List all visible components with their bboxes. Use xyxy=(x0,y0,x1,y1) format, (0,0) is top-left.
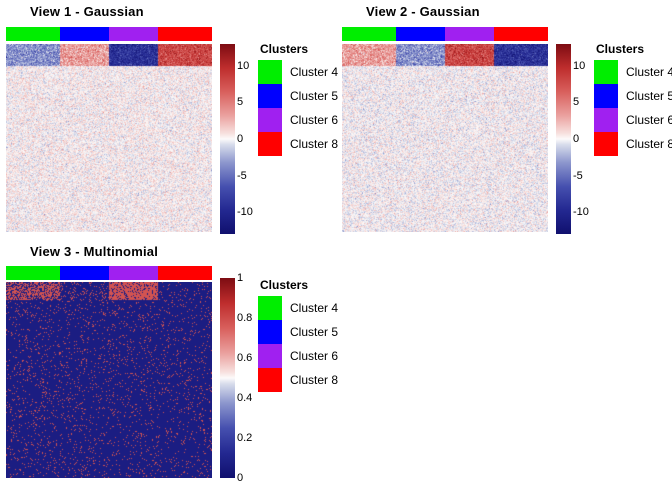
legend-swatch-icon xyxy=(258,368,282,392)
legend-item-label: Cluster 5 xyxy=(290,325,338,339)
legend-item-label: Cluster 5 xyxy=(626,89,672,103)
legend-item-1: Cluster 4 xyxy=(258,296,336,320)
heatmap-view-1 xyxy=(6,44,212,232)
legend-swatch-icon xyxy=(594,108,618,132)
cluster-bar-view-3 xyxy=(6,266,212,280)
legend-rows: Cluster 4Cluster 5Cluster 6Cluster 8 xyxy=(594,60,672,156)
legend-swatch-icon xyxy=(594,132,618,156)
colorbar-view-3 xyxy=(220,278,235,478)
colorbar-view-2 xyxy=(556,44,571,234)
colorbar-tick-label: 0.8 xyxy=(237,312,252,324)
legend-item-label: Cluster 8 xyxy=(626,137,672,151)
legend-swatch-icon xyxy=(258,320,282,344)
cluster-bar-segment-2 xyxy=(396,27,445,41)
legend-item-4: Cluster 8 xyxy=(258,368,336,392)
panel-view-2: View 2 - Gaussian 1050-5-10 Clusters Clu… xyxy=(336,0,672,240)
cluster-bar-segment-4 xyxy=(158,266,212,280)
cluster-bar-view-1 xyxy=(6,27,212,41)
legend-item-label: Cluster 6 xyxy=(290,113,338,127)
cluster-bar-segment-1 xyxy=(6,266,60,280)
legend-item-label: Cluster 8 xyxy=(290,137,338,151)
colorbar-gradient xyxy=(220,278,235,478)
colorbar-tick-label: -5 xyxy=(237,170,247,182)
cluster-bar-segment-3 xyxy=(445,27,494,41)
legend-swatch-icon xyxy=(594,60,618,84)
cluster-bar-segment-3 xyxy=(109,27,158,41)
legend-item-label: Cluster 4 xyxy=(626,65,672,79)
legend-swatch-icon xyxy=(258,84,282,108)
colorbar-tick-label: 1 xyxy=(237,272,243,284)
legend-swatch-icon xyxy=(258,344,282,368)
legend-swatch-icon xyxy=(594,84,618,108)
legend-item-2: Cluster 5 xyxy=(594,84,672,108)
legend-item-4: Cluster 8 xyxy=(594,132,672,156)
colorbar-tick-label: -10 xyxy=(237,206,253,218)
legend-rows: Cluster 4Cluster 5Cluster 6Cluster 8 xyxy=(258,60,336,156)
legend-item-3: Cluster 6 xyxy=(594,108,672,132)
legend-item-1: Cluster 4 xyxy=(258,60,336,84)
cluster-bar-view-2 xyxy=(342,27,548,41)
heatmap-view-2 xyxy=(342,44,548,232)
colorbar-view-1 xyxy=(220,44,235,234)
colorbar-tick-label: 0.4 xyxy=(237,392,252,404)
legend-item-2: Cluster 5 xyxy=(258,320,336,344)
legend-item-1: Cluster 4 xyxy=(594,60,672,84)
cluster-bar-segment-2 xyxy=(60,27,109,41)
legend-item-4: Cluster 8 xyxy=(258,132,336,156)
colorbar-tick-label: 10 xyxy=(237,60,249,72)
colorbar-tick-label: 5 xyxy=(237,96,243,108)
heatmap-view-3 xyxy=(6,282,212,478)
cluster-bar-segment-4 xyxy=(158,27,212,41)
legend-title: Clusters xyxy=(596,42,672,56)
legend-item-label: Cluster 8 xyxy=(290,373,338,387)
colorbar-tick-label: 0 xyxy=(573,133,579,145)
colorbar-gradient xyxy=(556,44,571,234)
legend-item-label: Cluster 6 xyxy=(290,349,338,363)
colorbar-tick-label: 0.6 xyxy=(237,352,252,364)
colorbar-tick-label: 5 xyxy=(573,96,579,108)
legend-swatch-icon xyxy=(258,108,282,132)
legend-view-3: Clusters Cluster 4Cluster 5Cluster 6Clus… xyxy=(258,278,336,392)
cluster-bar-segment-1 xyxy=(6,27,60,41)
legend-item-3: Cluster 6 xyxy=(258,108,336,132)
colorbar-tick-label: 0.2 xyxy=(237,432,252,444)
legend-swatch-icon xyxy=(258,132,282,156)
colorbar-tick-label: -5 xyxy=(573,170,583,182)
legend-swatch-icon xyxy=(258,60,282,84)
panel-title-view-3: View 3 - Multinomial xyxy=(30,244,158,259)
panel-title-view-1: View 1 - Gaussian xyxy=(30,4,144,19)
panel-view-3: View 3 - Multinomial 10.80.60.40.20 Clus… xyxy=(0,240,336,480)
legend-item-label: Cluster 5 xyxy=(290,89,338,103)
legend-title: Clusters xyxy=(260,42,336,56)
legend-view-1: Clusters Cluster 4Cluster 5Cluster 6Clus… xyxy=(258,42,336,156)
legend-title: Clusters xyxy=(260,278,336,292)
colorbar-tick-label: -10 xyxy=(573,206,589,218)
legend-item-2: Cluster 5 xyxy=(258,84,336,108)
colorbar-tick-label: 0 xyxy=(237,133,243,145)
legend-item-3: Cluster 6 xyxy=(258,344,336,368)
colorbar-tick-label: 10 xyxy=(573,60,585,72)
legend-item-label: Cluster 6 xyxy=(626,113,672,127)
cluster-bar-segment-3 xyxy=(109,266,158,280)
cluster-bar-segment-1 xyxy=(342,27,396,41)
legend-view-2: Clusters Cluster 4Cluster 5Cluster 6Clus… xyxy=(594,42,672,156)
colorbar-gradient xyxy=(220,44,235,234)
legend-swatch-icon xyxy=(258,296,282,320)
panel-title-view-2: View 2 - Gaussian xyxy=(366,4,480,19)
legend-rows: Cluster 4Cluster 5Cluster 6Cluster 8 xyxy=(258,296,336,392)
cluster-bar-segment-2 xyxy=(60,266,109,280)
legend-item-label: Cluster 4 xyxy=(290,301,338,315)
legend-item-label: Cluster 4 xyxy=(290,65,338,79)
colorbar-tick-label: 0 xyxy=(237,472,243,484)
panel-view-1: View 1 - Gaussian 1050-5-10 Clusters Clu… xyxy=(0,0,336,240)
cluster-bar-segment-4 xyxy=(494,27,548,41)
